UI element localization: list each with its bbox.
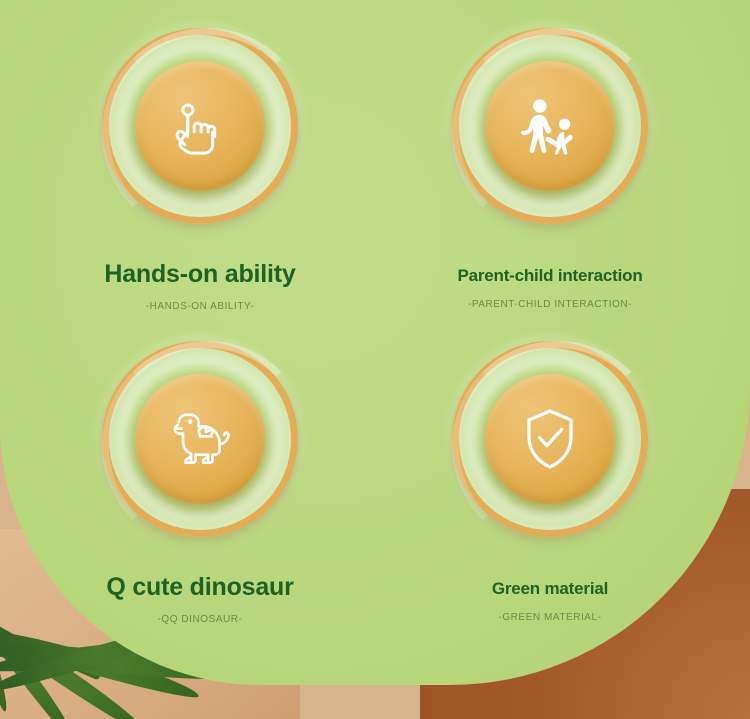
feature-badge (92, 18, 308, 234)
badge-disc (485, 374, 615, 504)
feature-card-hands-on-ability[interactable]: Hands-on ability -HANDS-ON ABILITY- (55, 18, 345, 312)
feature-badge (442, 331, 658, 547)
shield-check-icon (522, 407, 578, 471)
feature-title: Parent-child interaction (400, 266, 700, 286)
feature-card-parent-child-interaction[interactable]: Parent-child interaction -PARENT-CHILD I… (400, 18, 700, 310)
feature-subtitle: -QQ DINOSAUR- (55, 614, 345, 625)
feature-title: Hands-on ability (55, 260, 345, 289)
feature-subtitle: -GREEN MATERIAL- (400, 612, 700, 623)
badge-disc (135, 374, 265, 504)
feature-title: Green material (400, 579, 700, 599)
dinosaur-icon (166, 409, 234, 469)
pointing-hand-icon (169, 95, 231, 157)
feature-card-green-material[interactable]: Green material -GREEN MATERIAL- (400, 331, 700, 623)
feature-grid: Hands-on ability -HANDS-ON ABILITY- (0, 0, 750, 685)
product-feature-banner: Hands-on ability -HANDS-ON ABILITY- (0, 0, 750, 719)
badge-disc (485, 61, 615, 191)
feature-card-q-cute-dinosaur[interactable]: Q cute dinosaur -QQ DINOSAUR- (55, 331, 345, 625)
feature-title: Q cute dinosaur (55, 573, 345, 602)
feature-badge (442, 18, 658, 234)
parent-child-icon (518, 96, 582, 156)
feature-subtitle: -HANDS-ON ABILITY- (55, 301, 345, 312)
badge-disc (135, 61, 265, 191)
feature-subtitle: -PARENT-CHILD INTERACTION- (400, 299, 700, 310)
feature-badge (92, 331, 308, 547)
